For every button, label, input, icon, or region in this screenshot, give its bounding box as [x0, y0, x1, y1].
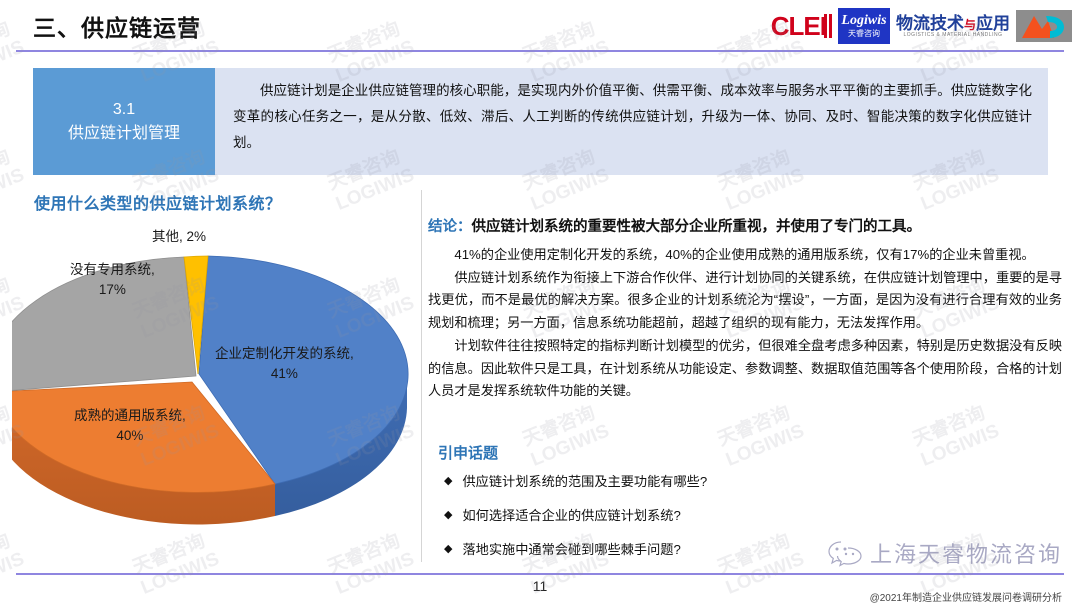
logiwis-logo: Logiwis 天睿咨询	[838, 8, 890, 44]
magazine-logo-mid: 与	[964, 18, 976, 32]
page-title: 三、供应链运营	[33, 9, 201, 43]
topic-text: 供应链计划系统的范围及主要功能有哪些?	[462, 472, 707, 492]
conclusion-headline: 供应链计划系统的重要性被大部分企业所重视，并使用了专门的工具。	[472, 219, 922, 235]
pie-label-other-text: 其他,	[152, 229, 183, 244]
pie-label-other-value: 2%	[187, 229, 207, 244]
conclusion-body: 41%的企业使用定制化开发的系统，40%的企业使用成熟的通用版系统，仅有17%的…	[428, 244, 1062, 403]
list-item: ◆ 供应链计划系统的范围及主要功能有哪些?	[444, 472, 1054, 492]
diamond-bullet-icon: ◆	[444, 472, 452, 491]
chart-panel: 使用什么类型的供应链计划系统？	[12, 186, 422, 562]
pie-label-blue-text: 企业定制化开发的系统,	[215, 344, 354, 364]
pie-label-gray: 没有专用系统, 17%	[70, 260, 155, 299]
ap-logo	[1016, 10, 1072, 42]
magazine-logo-tail: 应用	[976, 14, 1010, 33]
chart-title: 使用什么类型的供应链计划系统？	[34, 190, 282, 214]
panel-divider	[421, 190, 422, 562]
pie-label-gray-text: 没有专用系统,	[70, 260, 155, 280]
topics-heading: 引申话题	[438, 442, 498, 463]
pie-label-orange-value: 40%	[74, 426, 186, 446]
section-tag: 3.1 供应链计划管理	[33, 68, 215, 175]
clei-logo: CLEI	[771, 13, 832, 39]
conclusion-paragraph-1: 41%的企业使用定制化开发的系统，40%的企业使用成熟的通用版系统，仅有17%的…	[428, 244, 1062, 267]
pie-label-orange: 成熟的通用版系统, 40%	[74, 406, 186, 445]
pie-label-gray-value: 17%	[70, 280, 155, 300]
pie-label-other: 其他, 2%	[152, 227, 206, 247]
topic-text: 落地实施中通常会碰到哪些棘手问题?	[462, 540, 680, 560]
logiwis-logo-subtext: 天睿咨询	[848, 30, 880, 38]
diamond-bullet-icon: ◆	[444, 540, 452, 559]
logistics-magazine-logo: 物流技术与应用 LOGISTICS & MATERIAL HANDLING	[896, 15, 1010, 38]
magazine-logo-main: 物流技术	[896, 14, 964, 33]
conclusion-paragraph-3: 计划软件往往按照特定的指标判断计划模型的优劣，但很难全盘考虑多种因素，特别是历史…	[428, 335, 1062, 403]
footer-divider	[16, 573, 1064, 575]
section-number: 3.1	[113, 98, 135, 122]
ap-logo-icon	[1020, 12, 1068, 40]
logo-strip: CLEI Logiwis 天睿咨询 物流技术与应用 LOGISTICS & MA…	[771, 6, 1072, 46]
diamond-bullet-icon: ◆	[444, 506, 452, 525]
footer-note: @2021年制造企业供应链发展问卷调研分析	[870, 589, 1062, 604]
pie-label-blue-value: 41%	[215, 364, 354, 384]
pie-label-blue: 企业定制化开发的系统, 41%	[215, 344, 354, 383]
wechat-brand: 上海天睿物流咨询	[828, 537, 1062, 569]
pie-label-orange-text: 成熟的通用版系统,	[74, 406, 186, 426]
section-info-row: 3.1 供应链计划管理 供应链计划是企业供应链管理的核心职能，是实现内外价值平衡…	[33, 68, 1048, 175]
list-item: ◆ 如何选择适合企业的供应链计划系统?	[444, 506, 1054, 526]
wechat-brand-text: 上海天睿物流咨询	[870, 537, 1062, 569]
conclusion-panel: 结论：供应链计划系统的重要性被大部分企业所重视，并使用了专门的工具。 41%的企…	[428, 186, 1064, 562]
slide-header: 三、供应链运营 CLEI Logiwis 天睿咨询 物流技术与应用 LOGIST…	[0, 0, 1080, 52]
logiwis-logo-wordmark: Logiwis	[841, 14, 886, 28]
conclusion-headline-row: 结论：供应链计划系统的重要性被大部分企业所重视，并使用了专门的工具。	[428, 218, 1062, 237]
conclusion-paragraph-2: 供应链计划系统作为衔接上下游合作伙伴、进行计划协同的关键系统，在供应链计划管理中…	[428, 267, 1062, 335]
wechat-icon	[828, 539, 862, 567]
topic-text: 如何选择适合企业的供应链计划系统?	[462, 506, 680, 526]
magazine-logo-subtext: LOGISTICS & MATERIAL HANDLING	[904, 33, 1003, 38]
header-divider	[16, 50, 1064, 52]
section-name: 供应链计划管理	[68, 122, 180, 146]
pie-chart: 企业定制化开发的系统, 41% 成熟的通用版系统, 40% 没有专用系统, 17…	[12, 216, 422, 556]
section-description: 供应链计划是企业供应链管理的核心职能，是实现内外价值平衡、供需平衡、成本效率与服…	[215, 68, 1048, 175]
conclusion-keyword: 结论：	[428, 219, 472, 235]
